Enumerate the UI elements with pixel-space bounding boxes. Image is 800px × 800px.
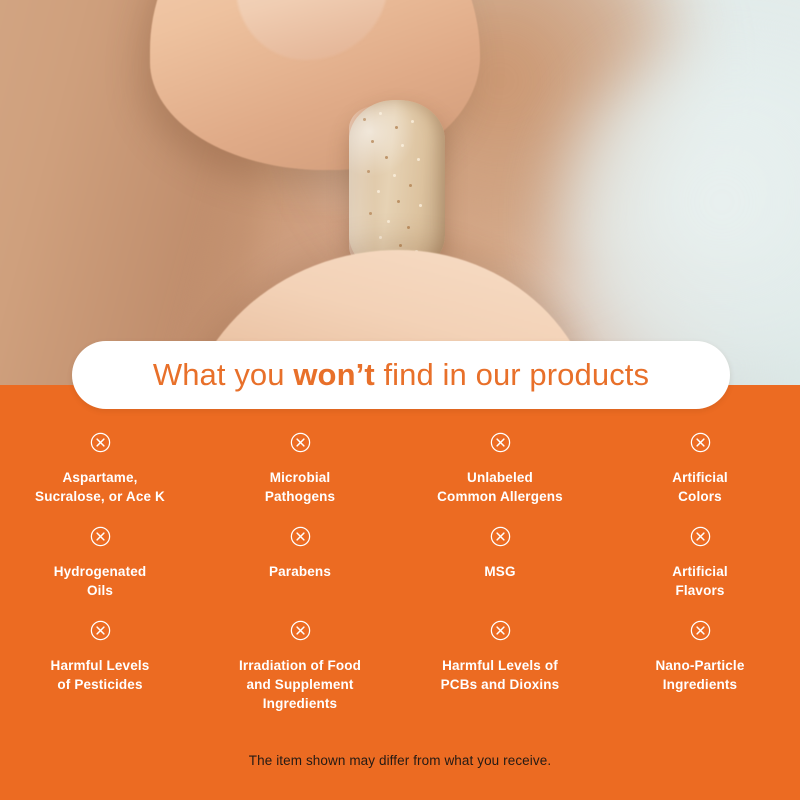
- page-title: What you won’t find in our products: [153, 357, 649, 393]
- disclaimer-text: The item shown may differ from what you …: [0, 753, 800, 768]
- excluded-item: Artificial Flavors: [600, 526, 800, 620]
- circle-x-icon: [490, 526, 511, 547]
- circle-x-icon: [690, 432, 711, 453]
- excluded-item-label: Artificial Flavors: [672, 562, 728, 600]
- excluded-item-label: Aspartame, Sucralose, or Ace K: [35, 468, 165, 506]
- circle-x-icon: [90, 526, 111, 547]
- product-photo: [0, 0, 800, 388]
- excluded-items-row-2: Hydrogenated Oils Parabens MSG Artificia…: [0, 526, 800, 620]
- excluded-item: Artificial Colors: [600, 432, 800, 526]
- title-emphasis: won’t: [293, 357, 374, 392]
- circle-x-icon: [490, 620, 511, 641]
- circle-x-icon: [690, 526, 711, 547]
- excluded-item: Microbial Pathogens: [200, 432, 400, 526]
- excluded-item-label: Artificial Colors: [672, 468, 728, 506]
- supplement-tablet: [349, 100, 445, 275]
- excluded-item-label: MSG: [484, 562, 515, 581]
- circle-x-icon: [90, 620, 111, 641]
- excluded-item: Irradiation of Food and Supplement Ingre…: [200, 620, 400, 720]
- excluded-items-row-3: Harmful Levels of Pesticides Irradiation…: [0, 620, 800, 720]
- excluded-item-label: Unlabeled Common Allergens: [437, 468, 563, 506]
- title-pill: What you won’t find in our products: [72, 341, 730, 409]
- excluded-item: Hydrogenated Oils: [0, 526, 200, 620]
- circle-x-icon: [490, 432, 511, 453]
- excluded-item: MSG: [400, 526, 600, 620]
- excluded-items-row-1: Aspartame, Sucralose, or Ace K Microbial…: [0, 432, 800, 526]
- tablet-highlight-edge: [349, 106, 375, 269]
- excluded-item-label: Microbial Pathogens: [265, 468, 335, 506]
- circle-x-icon: [690, 620, 711, 641]
- excluded-item: Harmful Levels of PCBs and Dioxins: [400, 620, 600, 720]
- excluded-item-label: Harmful Levels of Pesticides: [51, 656, 150, 694]
- excluded-item-label: Parabens: [269, 562, 331, 581]
- excluded-item-label: Irradiation of Food and Supplement Ingre…: [239, 656, 361, 713]
- excluded-item-label: Nano-Particle Ingredients: [656, 656, 745, 694]
- excluded-item: Parabens: [200, 526, 400, 620]
- title-part-2: find in our products: [375, 357, 649, 392]
- excluded-item: Unlabeled Common Allergens: [400, 432, 600, 526]
- product-info-graphic: What you won’t find in our products Aspa…: [0, 0, 800, 800]
- excluded-item: Harmful Levels of Pesticides: [0, 620, 200, 720]
- circle-x-icon: [290, 526, 311, 547]
- excluded-item-label: Harmful Levels of PCBs and Dioxins: [441, 656, 560, 694]
- excluded-item-label: Hydrogenated Oils: [54, 562, 147, 600]
- title-part-1: What you: [153, 357, 293, 392]
- circle-x-icon: [90, 432, 111, 453]
- circle-x-icon: [290, 620, 311, 641]
- excluded-item: Aspartame, Sucralose, or Ace K: [0, 432, 200, 526]
- excluded-item: Nano-Particle Ingredients: [600, 620, 800, 720]
- circle-x-icon: [290, 432, 311, 453]
